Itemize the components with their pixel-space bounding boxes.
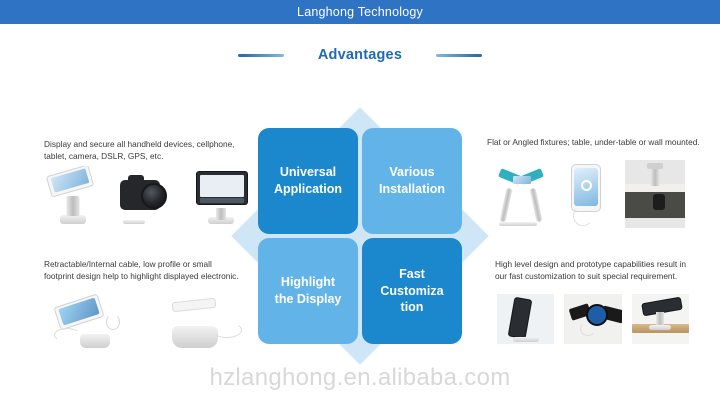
photo-under-table-mount bbox=[625, 160, 685, 228]
title-rule-right-decoration bbox=[436, 54, 482, 57]
header-title: Langhong Technology bbox=[297, 5, 423, 19]
photo-phone-wall-holder bbox=[557, 160, 617, 228]
quadrant-label-line1: Various bbox=[389, 164, 434, 181]
quadrant-various-installation[interactable]: Various Installation bbox=[362, 128, 462, 234]
section-title-row: Advantages bbox=[0, 44, 720, 66]
watermark: hzlanghong.en.alibaba.com bbox=[0, 364, 720, 392]
quadrant-label-line1: Fast bbox=[399, 266, 425, 283]
photo-dslr-camera bbox=[114, 166, 180, 226]
photo-tablet-on-wood-table-mount bbox=[632, 294, 689, 344]
blurb-top-right: Flat or Angled fixtures; table, under-ta… bbox=[487, 136, 701, 148]
quadrant-label-line3: tion bbox=[401, 299, 424, 316]
photo-tablet-on-stand bbox=[188, 166, 254, 226]
blurb-top-left: Display and secure all handheld devices,… bbox=[44, 138, 244, 163]
photo-tablet-stand-with-cable bbox=[156, 288, 250, 350]
photo-row-bottom-left bbox=[52, 288, 250, 350]
title-rule-left-decoration bbox=[238, 54, 284, 57]
page-title: Advantages bbox=[318, 47, 402, 63]
quadrant-label-line2: Application bbox=[274, 181, 342, 198]
photo-row-top-right bbox=[489, 160, 685, 228]
quadrant-label-line2: Customiza bbox=[380, 283, 443, 300]
blurb-bottom-right: High level design and prototype capabili… bbox=[495, 258, 699, 283]
quadrant-label-line2: Installation bbox=[379, 181, 445, 198]
quadrant-label-line1: Universal bbox=[280, 164, 336, 181]
slide: Langhong Technology Advantages Universal… bbox=[0, 0, 720, 406]
photo-row-top-left bbox=[40, 166, 254, 226]
quadrant-diagram: Universal Application Various Installati… bbox=[232, 108, 488, 364]
quadrant-label-line2: the Display bbox=[275, 291, 342, 308]
quadrant-universal-application[interactable]: Universal Application bbox=[258, 128, 358, 234]
photo-angled-dual-arm-fixture bbox=[489, 160, 549, 228]
blurb-bottom-left: Retractable/Internal cable, low profile … bbox=[44, 258, 240, 283]
quadrant-fast-customization[interactable]: Fast Customiza tion bbox=[362, 238, 462, 344]
photo-smartwatch-holder bbox=[564, 294, 621, 344]
photo-phone-display-stand bbox=[497, 294, 554, 344]
header-bar: Langhong Technology bbox=[0, 0, 720, 24]
photo-phone-on-white-stand-with-cable bbox=[52, 288, 146, 350]
quadrant-label-line1: Highlight bbox=[281, 274, 335, 291]
photo-phone-on-security-stand bbox=[40, 166, 106, 226]
photo-row-bottom-right bbox=[497, 294, 689, 344]
quadrant-highlight-the-display[interactable]: Highlight the Display bbox=[258, 238, 358, 344]
quadrant-grid: Universal Application Various Installati… bbox=[258, 128, 462, 344]
